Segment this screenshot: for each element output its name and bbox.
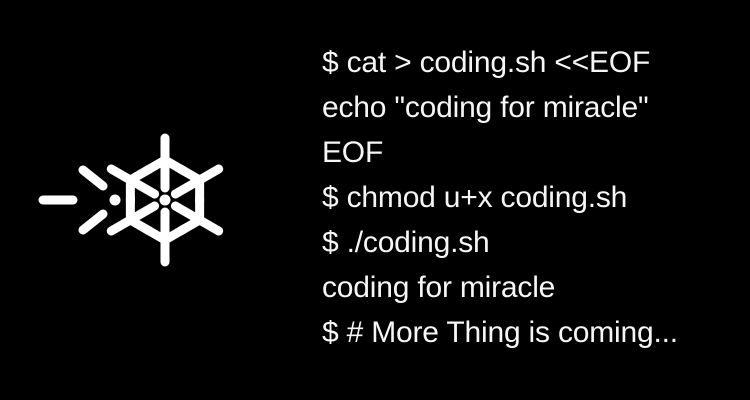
motion-lines-icon [43,170,103,230]
terminal-line: $ chmod u+x coding.sh [322,175,722,220]
snowflake-icon [102,138,228,262]
terminal-line: EOF [322,130,722,175]
snowflake-center-dot-icon [160,195,171,206]
terminal-output: $ cat > coding.sh <<EOF echo "coding for… [322,40,722,360]
banner-root: $ cat > coding.sh <<EOF echo "coding for… [0,0,750,400]
terminal-line: $ ./coding.sh [322,220,722,265]
logo-area [0,0,300,400]
terminal-line: coding for miracle [322,265,722,310]
terminal-line: $ # More Thing is coming... [322,310,722,355]
terminal-line: echo "coding for miracle" [322,85,722,130]
snowflake-logo [35,120,265,280]
terminal-line: $ cat > coding.sh <<EOF [322,40,722,85]
motion-dot-icon [110,195,121,206]
